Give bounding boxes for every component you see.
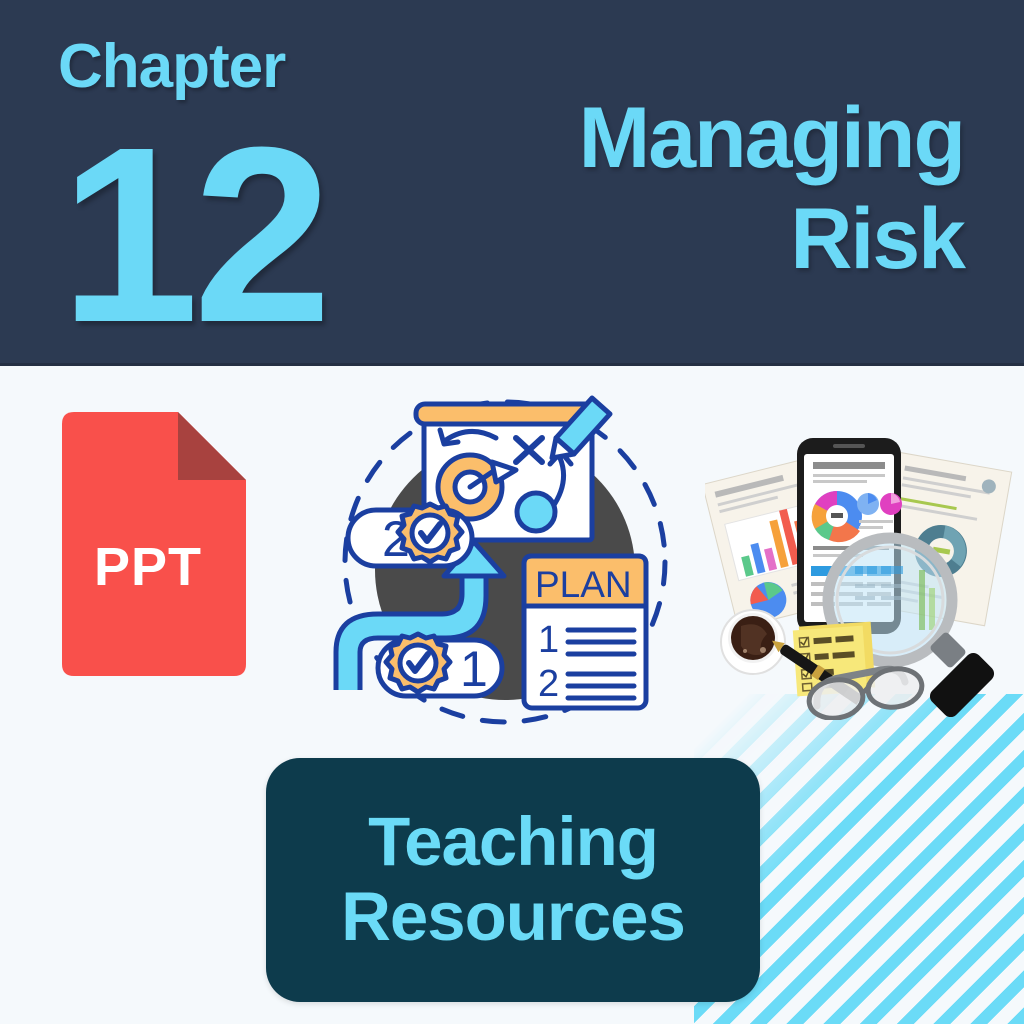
analytics-illustration-glyph bbox=[705, 420, 1020, 720]
step-pill-2: 2 bbox=[348, 504, 472, 567]
strategy-planning-illustration: 2 1 PLAN bbox=[320, 390, 690, 735]
plan-card-title: PLAN bbox=[535, 564, 632, 605]
plan-card: PLAN 1 2 bbox=[524, 556, 646, 708]
badge-line-1: Teaching bbox=[368, 805, 658, 880]
title-line-2: Risk bbox=[344, 189, 964, 290]
slide-root: Chapter 12 Managing Risk PPT bbox=[0, 0, 1024, 1024]
step-pill-1: 1 bbox=[378, 634, 502, 697]
chapter-number: 12 bbox=[60, 110, 326, 360]
ppt-file-icon[interactable]: PPT bbox=[48, 410, 248, 678]
title-line-1: Managing bbox=[344, 88, 964, 189]
page-title: Managing Risk bbox=[344, 88, 964, 291]
planning-illustration-glyph: 2 1 PLAN bbox=[320, 390, 690, 735]
plan-item-1-number: 1 bbox=[538, 619, 559, 661]
badge-line-2: Resources bbox=[341, 880, 685, 955]
plan-item-2-number: 2 bbox=[538, 663, 559, 705]
ppt-label: PPT bbox=[48, 536, 248, 598]
chapter-word-label: Chapter bbox=[58, 36, 285, 98]
step-1-label: 1 bbox=[460, 641, 488, 697]
business-analytics-illustration bbox=[705, 420, 1020, 720]
slide-header: Chapter 12 Managing Risk bbox=[0, 0, 1024, 366]
teaching-resources-badge[interactable]: Teaching Resources bbox=[266, 758, 760, 1002]
